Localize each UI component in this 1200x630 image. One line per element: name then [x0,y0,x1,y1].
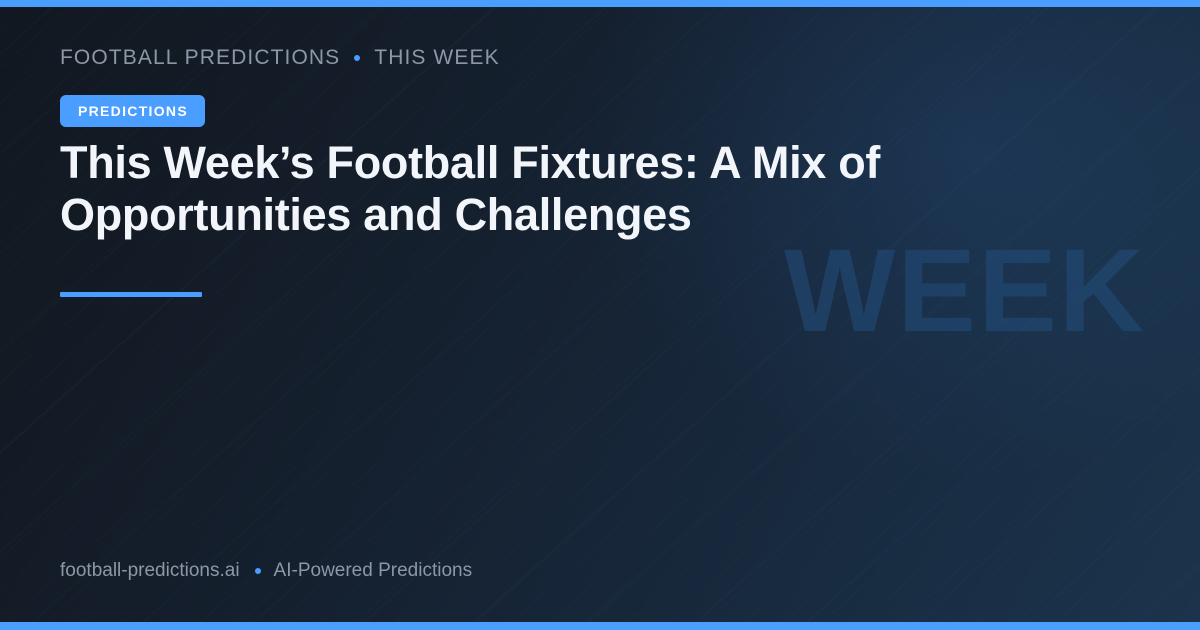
bullet-dot-icon [354,55,360,61]
page-title: This Week’s Football Fixtures: A Mix of … [60,137,1090,241]
og-card: WEEK FOOTBALL PREDICTIONS THIS WEEK PRED… [0,0,1200,630]
eyebrow-right-label: THIS WEEK [374,46,499,70]
category-badge: PREDICTIONS [60,95,205,127]
footer-site-url: football-predictions.ai [60,560,240,582]
bullet-dot-icon [255,568,261,574]
accent-divider [60,292,202,297]
footer: football-predictions.ai AI-Powered Predi… [60,560,472,582]
eyebrow-left-label: FOOTBALL PREDICTIONS [60,46,340,70]
eyebrow: FOOTBALL PREDICTIONS THIS WEEK [60,46,500,70]
footer-tagline: AI-Powered Predictions [274,560,473,582]
card-content: FOOTBALL PREDICTIONS THIS WEEK PREDICTIO… [60,0,1140,630]
